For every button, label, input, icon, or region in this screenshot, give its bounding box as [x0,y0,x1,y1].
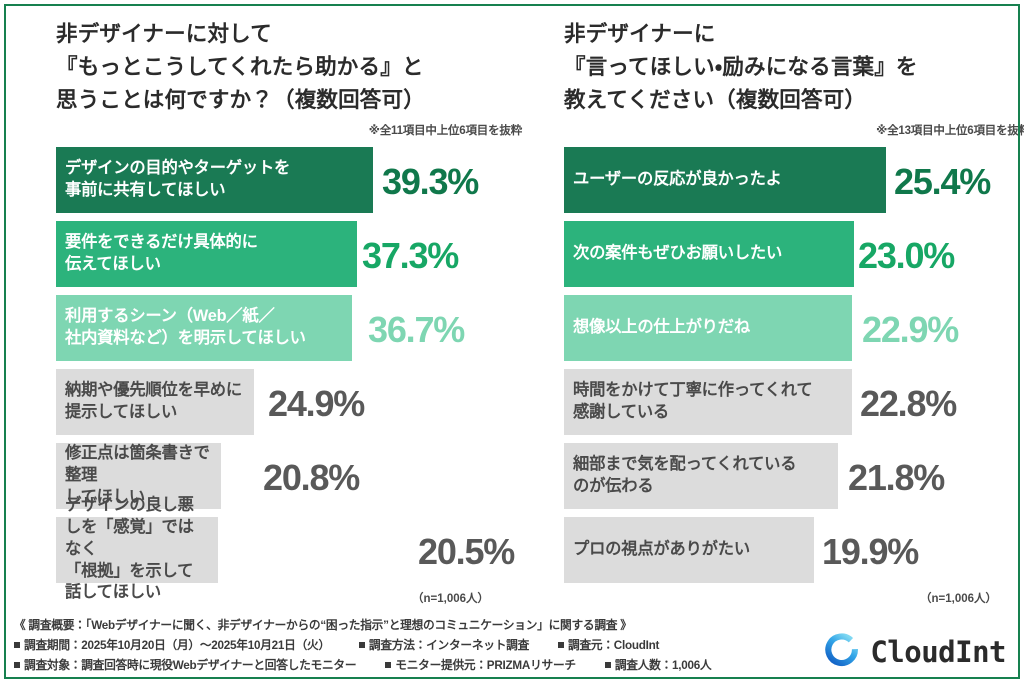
bar-value: 39.3% [382,164,478,200]
survey-footer: 《 調査概要：「Webデザイナーに聞く、非デザイナーからの“困った指示”と理想の… [0,611,1024,683]
bar-fill: デザインの良し悪しを「感覚」ではなく 「根拠」を示して話してほしい [56,517,218,583]
charts-area: 非デザイナーに対して 『もっとこうしてくれたら助かる』と 思うことは何ですか？（… [0,0,1024,600]
bar-fill: デザインの目的やターゲットを 事前に共有してほしい [56,147,373,213]
bar-value: 37.3% [362,238,458,274]
right-sample-size-caption: （n=1,006人） [920,590,997,606]
bar-row: 細部まで気を配ってくれている のが伝わる 21.8% [564,443,1024,513]
bar-value: 22.8% [860,386,956,422]
bar-value: 23.0% [858,238,954,274]
bar-value: 21.8% [848,460,944,496]
bar-label: 想像以上の仕上がりだね [573,317,750,339]
survey-source-item: 調査元：CloudInt [558,639,659,652]
bar-fill: プロの視点がありがたい [564,517,814,583]
bar-fill: ユーザーの反応が良かったよ [564,147,886,213]
right-extract-note: ※全13項目中上位6項目を抜粋 [564,122,1024,138]
survey-monitor-provider-text: モニター提供元：PRIZMAリサーチ [395,659,576,672]
survey-source-text: 調査元：CloudInt [568,639,659,652]
bar-fill: 要件をできるだけ具体的に 伝えてほしい [56,221,357,287]
bar-label: 要件をできるだけ具体的に 伝えてほしい [65,232,258,276]
bar-value: 20.8% [263,460,359,496]
bar-row: デザインの良し悪しを「感覚」ではなく 「根拠」を示して話してほしい 20.5% [56,517,528,587]
survey-method-item: 調査方法：インターネット調査 [359,639,529,652]
bar-fill: 細部まで気を配ってくれている のが伝わる [564,443,838,509]
square-bullet-icon [558,642,564,648]
bar-row: プロの視点がありがたい 19.9% [564,517,1024,587]
left-extract-note: ※全11項目中上位6項目を抜粋 [56,122,528,138]
bar-fill: 次の案件もぜひお願いしたい [564,221,854,287]
bar-row: 利用するシーン（Web／紙／ 社内資料など）を明示してほしい 36.7% [56,295,528,365]
survey-period-item: 調査期間：2025年10月20日（月）〜2025年10月21日（火） [14,639,330,652]
bar-label: プロの視点がありがたい [573,539,750,561]
bar-value: 22.9% [862,312,958,348]
bar-row: 次の案件もぜひお願いしたい 23.0% [564,221,1024,291]
right-question-title: 非デザイナーに 『言ってほしい・励みになる言葉』を 教えてください（複数回答可） [564,18,1024,117]
bar-label: ユーザーの反応が良かったよ [573,169,782,191]
bar-value: 36.7% [368,312,464,348]
right-chart-column: 非デザイナーに 『言ってほしい・励みになる言葉』を 教えてください（複数回答可）… [564,18,1024,591]
left-chart-column: 非デザイナーに対して 『もっとこうしてくれたら助かる』と 思うことは何ですか？（… [56,18,528,591]
bar-row: 要件をできるだけ具体的に 伝えてほしい 37.3% [56,221,528,291]
survey-respondents-item: 調査人数：1,006人 [605,659,712,672]
left-question-title: 非デザイナーに対して 『もっとこうしてくれたら助かる』と 思うことは何ですか？（… [56,18,528,117]
survey-monitor-provider-item: モニター提供元：PRIZMAリサーチ [385,659,576,672]
bar-value: 19.9% [822,534,918,570]
bar-label: 次の案件もぜひお願いしたい [573,243,782,265]
survey-period-text: 調査期間：2025年10月20日（月）〜2025年10月21日（火） [24,639,330,652]
survey-method-text: 調査方法：インターネット調査 [369,639,529,652]
bar-fill: 時間をかけて丁寧に作ってくれて 感謝している [564,369,852,435]
bar-row: 想像以上の仕上がりだね 22.9% [564,295,1024,365]
bar-value: 24.9% [268,386,364,422]
bar-label: 利用するシーン（Web／紙／ 社内資料など）を明示してほしい [65,306,343,350]
survey-respondents-text: 調査人数：1,006人 [615,659,712,672]
bar-fill: 想像以上の仕上がりだね [564,295,852,361]
square-bullet-icon [605,662,611,668]
ring-icon [823,633,861,671]
bar-label: 納期や優先順位を早めに 提示してほしい [65,380,242,424]
bar-fill: 納期や優先順位を早めに 提示してほしい [56,369,254,435]
square-bullet-icon [14,642,20,648]
bar-fill: 利用するシーン（Web／紙／ 社内資料など）を明示してほしい [56,295,352,361]
bar-row: 納期や優先順位を早めに 提示してほしい 24.9% [56,369,528,439]
bar-label: デザインの良し悪しを「感覚」ではなく 「根拠」を示して話してほしい [65,495,209,604]
bar-value: 20.5% [418,534,514,570]
right-bar-list: ユーザーの反応が良かったよ 25.4% 次の案件もぜひお願いしたい 23.0% … [564,147,1024,587]
bar-row: 時間をかけて丁寧に作ってくれて 感謝している 22.8% [564,369,1024,439]
bar-row: デザインの目的やターゲットを 事前に共有してほしい 39.3% [56,147,528,217]
bar-value: 25.4% [894,164,990,200]
survey-summary-text: 《 調査概要：「Webデザイナーに聞く、非デザイナーからの“困った指示”と理想の… [14,619,632,632]
square-bullet-icon [14,662,20,668]
left-sample-size-caption: （n=1,006人） [412,590,489,606]
left-bar-list: デザインの目的やターゲットを 事前に共有してほしい 39.3% 要件をできるだけ… [56,147,528,587]
square-bullet-icon [359,642,365,648]
cloudint-logo: CloudInt [823,633,1006,671]
square-bullet-icon [385,662,391,668]
infographic-root: 非デザイナーに対して 『もっとこうしてくれたら助かる』と 思うことは何ですか？（… [0,0,1024,683]
cloudint-wordmark: CloudInt [870,638,1006,667]
survey-target-text: 調査対象：調査回答時に現役Webデザイナーと回答したモニター [24,659,356,672]
survey-target-item: 調査対象：調査回答時に現役Webデザイナーと回答したモニター [14,659,356,672]
bar-label: 細部まで気を配ってくれている のが伝わる [573,454,796,498]
bar-label: 時間をかけて丁寧に作ってくれて 感謝している [573,380,843,424]
bar-label: デザインの目的やターゲットを 事前に共有してほしい [65,158,290,202]
bar-row: ユーザーの反応が良かったよ 25.4% [564,147,1024,217]
